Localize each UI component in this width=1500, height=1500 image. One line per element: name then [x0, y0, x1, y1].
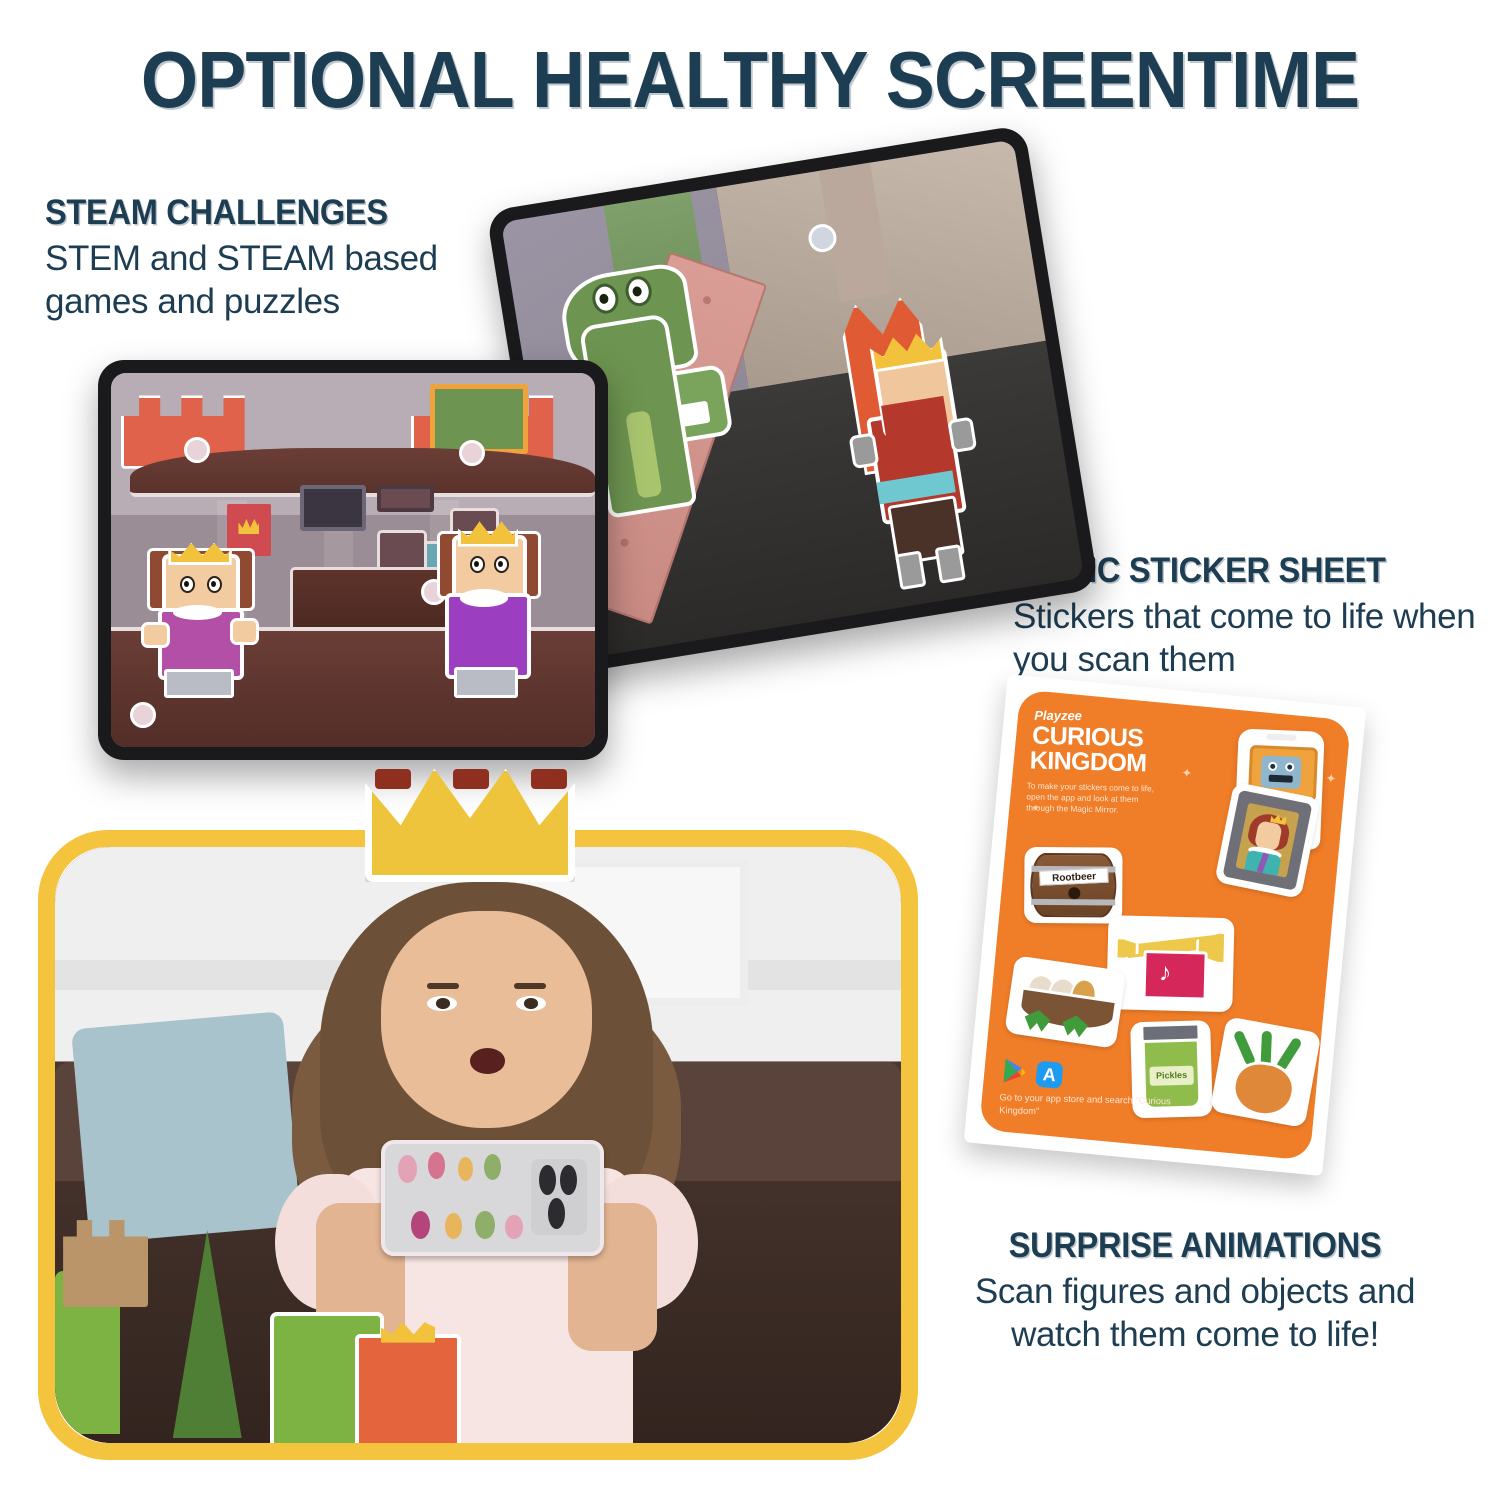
pickles-label: Pickles — [1150, 1066, 1194, 1086]
crown-icon — [365, 764, 575, 882]
magic-sticker-sheet: Playzee CURIOUS KINGDOM To make your sti… — [964, 674, 1367, 1176]
sticker-sheet-instructions: To make your stickers come to life, open… — [1026, 780, 1167, 816]
tablet-castle-scene — [98, 360, 608, 760]
photo-girl-with-phone — [38, 830, 918, 1460]
sticker-royal-portrait — [1214, 782, 1320, 899]
tablet-castle-screen — [111, 373, 595, 747]
sparkle-icon: ✦ — [1031, 803, 1040, 815]
sparkle-icon: ✦ — [1325, 770, 1337, 787]
brand-title-line2: KINGDOM — [1030, 749, 1179, 777]
princess-character — [435, 511, 537, 705]
music-note-icon: ♪ — [1159, 960, 1172, 985]
sticker-rootbeer-barrel: Rootbeer — [1024, 847, 1123, 924]
sticker-birds-nest — [1004, 955, 1126, 1049]
poster-stage: OPTIONAL HEALTHY SCREENTIME — [0, 0, 1500, 1500]
brand-script: Playzee — [1034, 708, 1082, 723]
sticker-trumpet: ♪ — [1106, 915, 1234, 1012]
sticker-sheet-orange-panel: Playzee CURIOUS KINGDOM To make your sti… — [979, 689, 1351, 1160]
feature-heading-steam: STEAM CHALLENGES — [45, 195, 482, 231]
sparkle-icon: ✦ — [1181, 765, 1193, 782]
store-search-text: Go to your app store and search "Curious… — [999, 1091, 1210, 1122]
google-play-icon[interactable] — [1001, 1057, 1027, 1085]
feature-heading-surprise: SURPRISE ANIMATIONS — [976, 1228, 1413, 1264]
photo-frame-border — [38, 830, 918, 1460]
app-store-icon[interactable]: A — [1035, 1061, 1063, 1089]
feature-body-surprise: Scan figures and objects and watch them … — [960, 1270, 1430, 1356]
barrel-label: Rootbeer — [1039, 868, 1109, 886]
feature-surprise-animations: SURPRISE ANIMATIONS Scan figures and obj… — [960, 1228, 1430, 1356]
monster-character — [1260, 755, 1301, 789]
queen-character — [145, 538, 251, 706]
sticker-sheet-brand: Playzee CURIOUS KINGDOM To make your sti… — [1025, 705, 1183, 827]
page-title: OPTIONAL HEALTHY SCREENTIME — [60, 40, 1440, 120]
app-store-badges[interactable]: A — [1001, 1057, 1063, 1089]
feature-steam-challenges: STEAM CHALLENGES STEM and STEAM based ga… — [45, 195, 515, 323]
sticker-carrot — [1210, 1016, 1322, 1128]
feature-body-steam: STEM and STEAM based games and puzzles — [45, 237, 515, 323]
feature-body-sticker: Stickers that come to life when you scan… — [1013, 595, 1483, 681]
